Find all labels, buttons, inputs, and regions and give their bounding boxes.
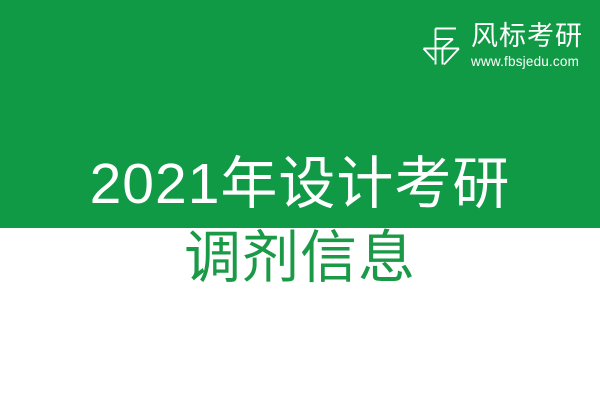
headline-line-2: 调剂信息 (0, 224, 600, 292)
poster-banner: 风标考研 www.fbsjedu.com 2021年设计考研 调剂信息 (0, 0, 600, 400)
brand-name: 风标考研 (471, 21, 583, 51)
bottom-white-area (0, 300, 600, 400)
brand-lockup[interactable]: 风标考研 www.fbsjedu.com (422, 20, 583, 70)
brand-text-block: 风标考研 www.fbsjedu.com (471, 20, 583, 70)
brand-url[interactable]: www.fbsjedu.com (471, 53, 579, 70)
headline-line-1: 2021年设计考研 (0, 150, 600, 218)
headline-block: 2021年设计考研 调剂信息 (0, 150, 600, 292)
fbsj-monogram-icon (422, 20, 462, 68)
